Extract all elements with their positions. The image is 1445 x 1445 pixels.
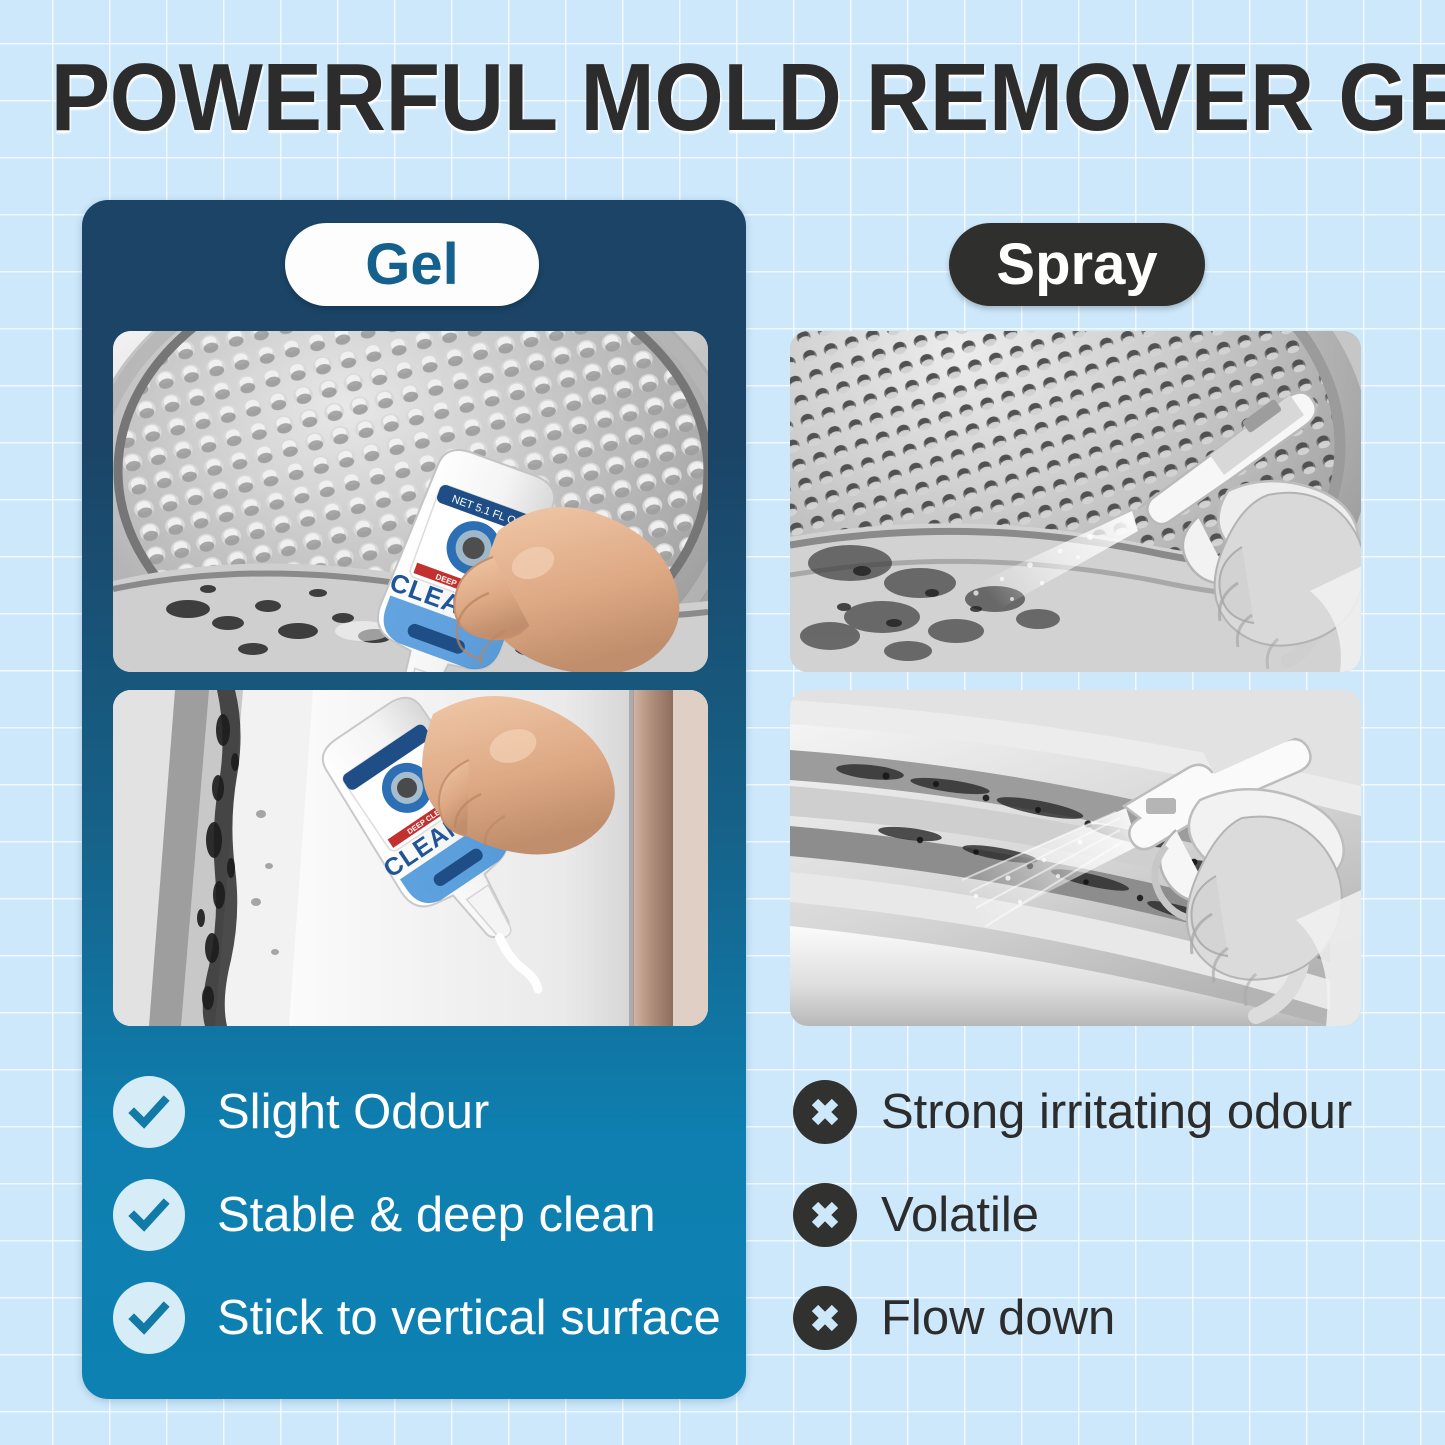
badge-gel: Gel (285, 223, 539, 306)
check-icon (113, 1282, 185, 1354)
check-icon (113, 1179, 185, 1251)
feature-label: Stick to vertical surface (217, 1292, 721, 1344)
feature-row: Slight Odour (113, 1060, 733, 1163)
feature-row: Stick to vertical surface (113, 1266, 733, 1369)
photo-gel-applied-to-washing-machine-drum: NET 5.1 FL OZ DEEP CLEAN CLEANER (113, 331, 708, 672)
feature-label: Strong irritating odour (881, 1086, 1352, 1138)
photo-gel-applied-to-door-seal: DEEP CLEAN CLEANER (113, 690, 708, 1026)
photo-spray-applied-to-door-seal (790, 690, 1361, 1026)
cross-icon (793, 1080, 857, 1144)
badge-spray: Spray (949, 223, 1205, 306)
feature-label: Slight Odour (217, 1086, 489, 1138)
photo-spray-applied-to-washing-machine-drum (790, 331, 1361, 672)
badge-spray-label: Spray (996, 236, 1157, 294)
feature-label: Stable & deep clean (217, 1189, 656, 1241)
feature-row: Volatile (793, 1163, 1413, 1266)
page-title: POWERFUL MOLD REMOVER GEL (51, 48, 1395, 148)
feature-label: Volatile (881, 1189, 1039, 1241)
cross-icon (793, 1286, 857, 1350)
gel-feature-list: Slight Odour Stable & deep clean Stick t… (113, 1060, 733, 1369)
feature-row: Stable & deep clean (113, 1163, 733, 1266)
spray-feature-list: Strong irritating odour Volatile Flow do… (793, 1060, 1413, 1369)
infographic-canvas: POWERFUL MOLD REMOVER GEL Gel Spray (0, 0, 1445, 1445)
feature-row: Strong irritating odour (793, 1060, 1413, 1163)
cross-icon (793, 1183, 857, 1247)
badge-gel-label: Gel (365, 236, 459, 294)
feature-label: Flow down (881, 1292, 1115, 1344)
feature-row: Flow down (793, 1266, 1413, 1369)
check-icon (113, 1076, 185, 1148)
